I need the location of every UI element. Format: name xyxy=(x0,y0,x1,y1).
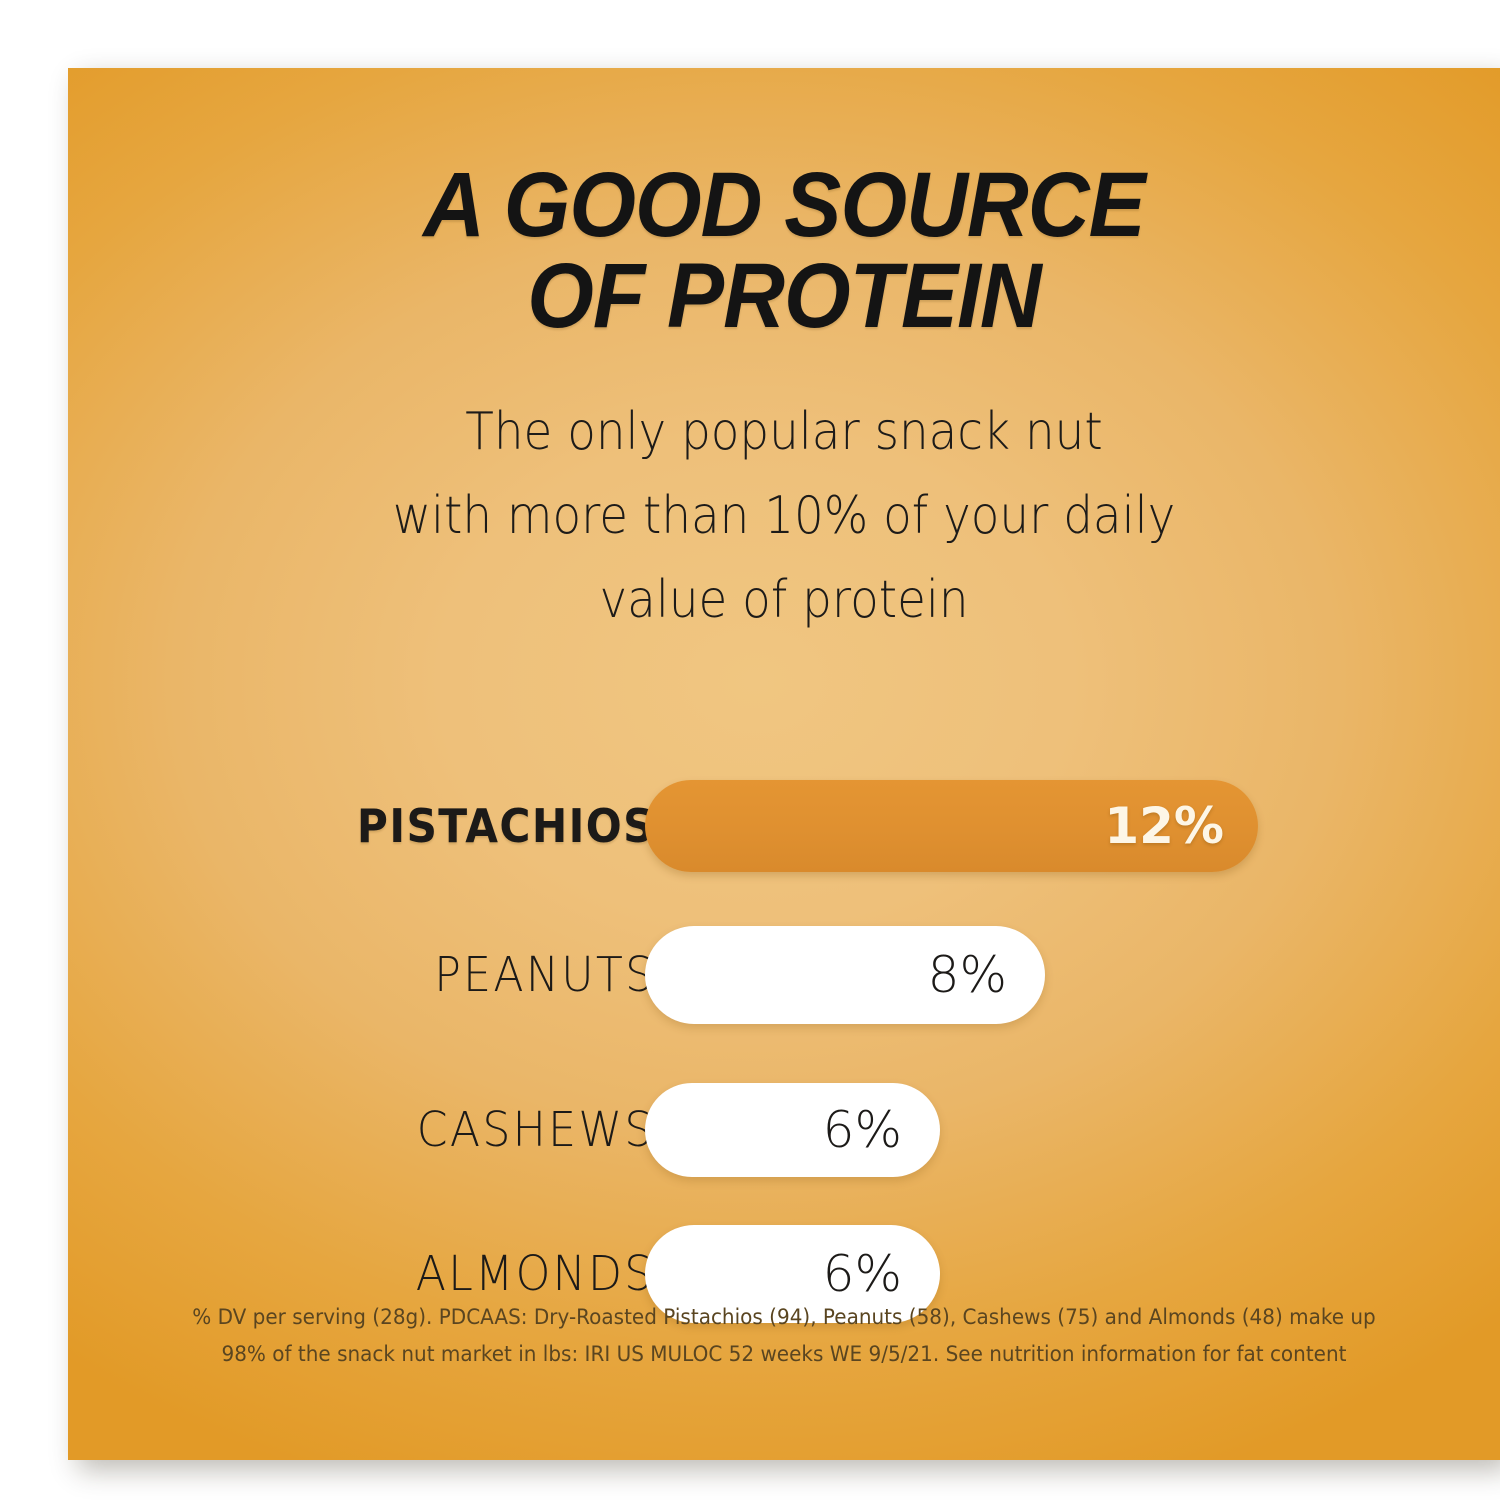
footnote-line-1: % DV per serving (28g). PDCAAS: Dry-Roas… xyxy=(118,1300,1450,1337)
subtitle: The only popular snack nut with more tha… xyxy=(140,390,1429,643)
bar-track-pistachios: 12% xyxy=(645,780,1258,872)
bar-row-pistachios: PISTACHIOS 12% xyxy=(68,780,1500,872)
bar-value-almonds: 6% xyxy=(823,1245,940,1303)
subtitle-line-3: value of protein xyxy=(140,558,1429,642)
subtitle-line-1: The only popular snack nut xyxy=(140,390,1429,474)
footnote: % DV per serving (28g). PDCAAS: Dry-Roas… xyxy=(118,1300,1450,1374)
bar-value-pistachios: 12% xyxy=(1104,797,1258,855)
bar-row-peanuts: PEANUTS 8% xyxy=(68,926,1500,1024)
page-title: A GOOD SOURCE OF PROTEIN xyxy=(118,160,1450,342)
bar-track-cashews: 6% xyxy=(645,1083,940,1177)
headline-line-1: A GOOD SOURCE xyxy=(118,160,1450,251)
infographic-canvas: A GOOD SOURCE OF PROTEIN The only popula… xyxy=(0,0,1500,1500)
bar-label-cashews: CASHEWS xyxy=(417,1083,655,1177)
headline-line-2: OF PROTEIN xyxy=(118,251,1450,342)
bar-track-peanuts: 8% xyxy=(645,926,1045,1024)
infographic-panel: A GOOD SOURCE OF PROTEIN The only popula… xyxy=(68,68,1500,1460)
bar-value-cashews: 6% xyxy=(823,1101,940,1159)
bar-chart: PISTACHIOS 12% PEANUTS 8% CASHEWS 6% ALM… xyxy=(68,643,1500,1263)
bar-value-peanuts: 8% xyxy=(928,946,1045,1004)
bar-label-peanuts: PEANUTS xyxy=(434,926,655,1024)
bar-row-cashews: CASHEWS 6% xyxy=(68,1083,1500,1177)
subtitle-line-2: with more than 10% of your daily xyxy=(140,474,1429,558)
bar-label-pistachios: PISTACHIOS xyxy=(357,780,655,872)
footnote-line-2: 98% of the snack nut market in lbs: IRI … xyxy=(118,1337,1450,1374)
